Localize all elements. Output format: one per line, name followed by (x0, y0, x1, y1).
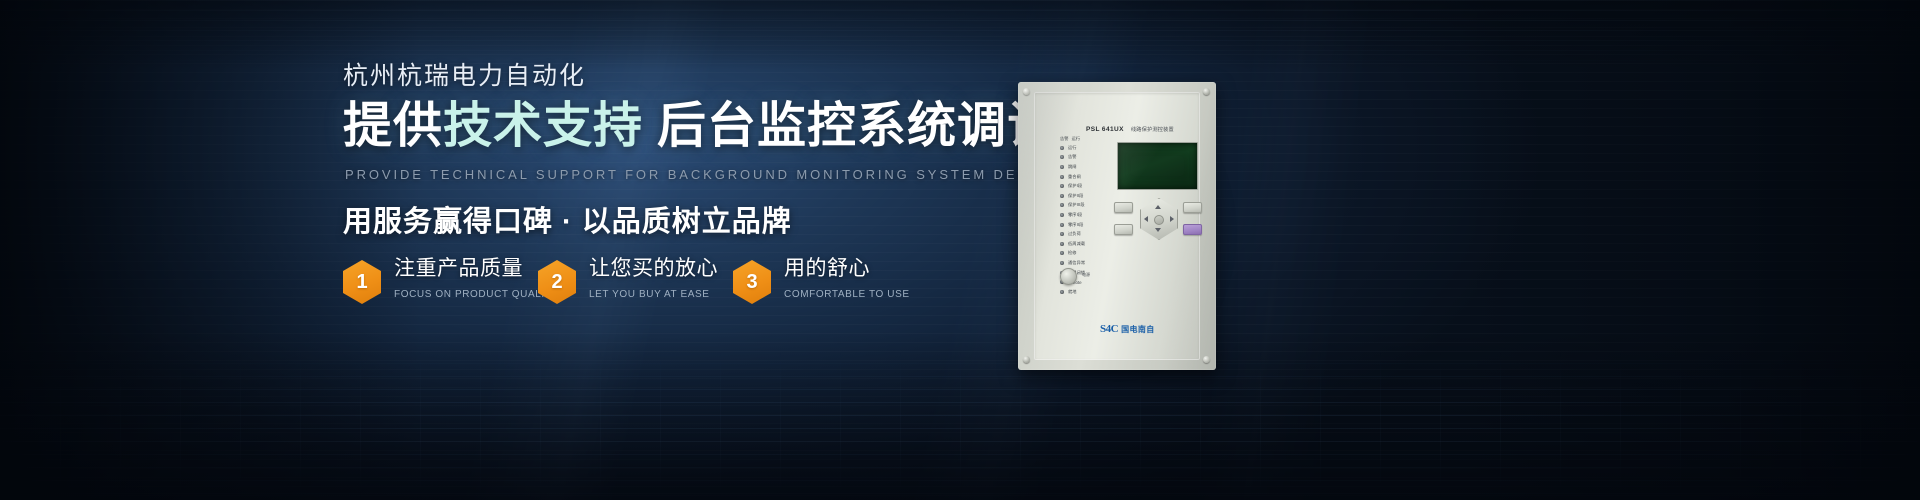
feature-text: 注重产品质量 FOCUS ON PRODUCT QUALITY (394, 252, 559, 300)
hexagon-badge: 1 (343, 260, 381, 304)
led-indicator-icon (1060, 290, 1064, 294)
led-label: 就地 (1068, 289, 1077, 295)
headline-part-2: 后台监控系统调试 (657, 99, 1057, 153)
company-name: 杭州杭瑞电力自动化 (343, 64, 983, 89)
device-led-row: 重合闸 (1060, 172, 1106, 182)
led-indicator-icon (1060, 184, 1064, 188)
led-label: 通信异常 (1068, 260, 1085, 266)
led-indicator-icon (1060, 194, 1064, 198)
device-button-reset (1114, 224, 1133, 235)
device-case: PSL 641UX线路保护测控装置 告警 运行 运行 告警 跳闸 重合闸 保护I… (1018, 82, 1216, 370)
device-button-cancel (1183, 224, 1202, 235)
device-model-subtext: 线路保护测控装置 (1131, 127, 1174, 133)
device-led-row: 过负荷 (1060, 229, 1106, 239)
screw-icon (1203, 88, 1210, 95)
feature-title: 注重产品质量 (394, 256, 559, 282)
feature-text: 用的舒心 COMFORTABLE TO USE (784, 252, 910, 300)
headline-part-1: 提供 (343, 99, 443, 153)
device-bottom-label: 电源 (1082, 272, 1090, 278)
feature-item: 1 注重产品质量 FOCUS ON PRODUCT QUALITY (343, 252, 538, 304)
led-label: 保护III段 (1068, 202, 1085, 208)
led-label: 跳闸 (1068, 164, 1077, 170)
led-indicator-icon (1060, 232, 1064, 236)
device-led-header: 告警 运行 (1060, 136, 1106, 142)
led-indicator-icon (1060, 251, 1064, 255)
device-keypad (1114, 200, 1200, 258)
slogan: 用服务赢得口碑 · 以品质树立品牌 (343, 198, 983, 240)
hexagon-badge: 3 (733, 260, 771, 304)
brand-mark-text: S4C (1100, 324, 1118, 335)
led-label: 保护I段 (1068, 183, 1082, 189)
led-indicator-icon (1060, 175, 1064, 179)
device-led-row: 告警 (1060, 153, 1106, 163)
feature-subtitle: LET YOU BUY AT EASE (589, 289, 718, 300)
arrow-right-icon (1170, 216, 1174, 222)
device-button-zone (1183, 202, 1202, 213)
led-header-item: 运行 (1072, 136, 1081, 142)
feature-title: 让您买的放心 (589, 256, 718, 282)
feature-number: 2 (538, 260, 576, 304)
led-indicator-icon (1060, 203, 1064, 207)
device-led-row: 运行 (1060, 143, 1106, 153)
screw-icon (1023, 88, 1030, 95)
device-model-label: PSL 641UX线路保护测控装置 (1086, 126, 1174, 133)
feature-subtitle: FOCUS ON PRODUCT QUALITY (394, 289, 559, 300)
device-model-text: PSL 641UX (1086, 126, 1124, 133)
banner-copy-block: 杭州杭瑞电力自动化 提供技术支持后台监控系统调试 PROVIDE TECHNIC… (343, 64, 983, 240)
device-led-row: 检修 (1060, 249, 1106, 259)
arrow-left-icon (1144, 216, 1148, 222)
feature-number: 1 (343, 260, 381, 304)
feature-item: 2 让您买的放心 LET YOU BUY AT EASE (538, 252, 733, 304)
led-label: 运行 (1068, 145, 1077, 151)
led-label: 低周减载 (1068, 241, 1085, 247)
product-device-image: PSL 641UX线路保护测控装置 告警 运行 运行 告警 跳闸 重合闸 保护I… (1018, 82, 1220, 372)
device-led-row: 零序I段 (1060, 210, 1106, 220)
feature-list: 1 注重产品质量 FOCUS ON PRODUCT QUALITY 2 让您买的… (343, 252, 928, 304)
device-led-row: 就地 (1060, 287, 1106, 297)
led-label: 零序II段 (1068, 222, 1083, 228)
feature-number: 3 (733, 260, 771, 304)
headline: 提供技术支持后台监控系统调试 (343, 101, 983, 153)
feature-item: 3 用的舒心 COMFORTABLE TO USE (733, 252, 928, 304)
led-indicator-icon (1060, 223, 1064, 227)
device-power-knob (1060, 268, 1077, 285)
led-indicator-icon (1060, 242, 1064, 246)
device-brand-logo: S4C 国电南自 (1100, 324, 1155, 335)
headline-accent: 技术支持 (443, 99, 643, 153)
led-label: 保护II段 (1068, 193, 1083, 199)
device-button-confirm (1114, 202, 1133, 213)
led-indicator-icon (1060, 146, 1064, 150)
feature-title: 用的舒心 (784, 256, 910, 282)
feature-text: 让您买的放心 LET YOU BUY AT EASE (589, 252, 718, 300)
led-indicator-icon (1060, 155, 1064, 159)
device-lcd-screen (1117, 142, 1198, 190)
led-label: 过负荷 (1068, 231, 1081, 237)
device-led-row: 低周减载 (1060, 239, 1106, 249)
brand-name-text: 国电南自 (1121, 324, 1155, 335)
headline-subtitle-english: PROVIDE TECHNICAL SUPPORT FOR BACKGROUND… (345, 167, 983, 182)
device-front-panel: PSL 641UX线路保护测控装置 告警 运行 运行 告警 跳闸 重合闸 保护I… (1034, 92, 1200, 360)
device-led-row: 保护III段 (1060, 201, 1106, 211)
arrow-down-icon (1155, 228, 1161, 232)
led-label: 告警 (1068, 154, 1077, 160)
feature-subtitle: COMFORTABLE TO USE (784, 289, 910, 300)
led-indicator-icon (1060, 261, 1064, 265)
screw-icon (1023, 356, 1030, 363)
promo-banner: 杭州杭瑞电力自动化 提供技术支持后台监控系统调试 PROVIDE TECHNIC… (0, 0, 1920, 500)
device-led-row: 通信异常 (1060, 258, 1106, 268)
led-header-item: 告警 (1060, 136, 1069, 142)
device-led-row: 保护I段 (1060, 181, 1106, 191)
led-label: 重合闸 (1068, 174, 1081, 180)
device-center-button (1154, 215, 1164, 225)
device-led-row: 保护II段 (1060, 191, 1106, 201)
led-indicator-icon (1060, 213, 1064, 217)
hexagon-badge: 2 (538, 260, 576, 304)
screw-icon (1203, 356, 1210, 363)
device-led-row: 零序II段 (1060, 220, 1106, 230)
arrow-up-icon (1155, 205, 1161, 209)
led-label: 零序I段 (1068, 212, 1082, 218)
device-led-row: 跳闸 (1060, 162, 1106, 172)
led-label: 检修 (1068, 250, 1077, 256)
banner-content: 杭州杭瑞电力自动化 提供技术支持后台监控系统调试 PROVIDE TECHNIC… (0, 0, 1920, 500)
led-indicator-icon (1060, 165, 1064, 169)
